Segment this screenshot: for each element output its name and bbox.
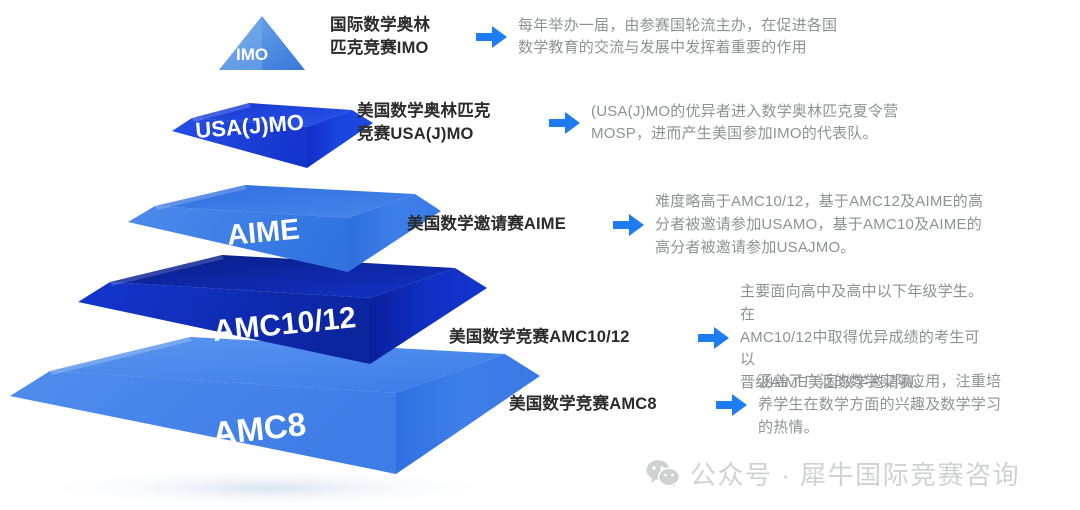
row-usajmo-title: 美国数学奥林匹克 竞赛USA(J)MO: [357, 100, 539, 147]
infographic-canvas: AMC8 AMC10/12 AIME USA(J)MO: [0, 0, 1080, 510]
row-amc8: 美国数学竞赛AMC8 涵盖了广泛的数学实际应用，注重培 养学生在数学方面的兴趣及…: [509, 371, 1005, 439]
wechat-icon: [646, 459, 680, 489]
tier-imo-label: IMO: [236, 45, 268, 64]
row-usajmo-desc: (USA(J)MO的优异者进入数学奥林匹克夏令营 MOSP，进而产生美国参加IM…: [591, 101, 923, 147]
row-usajmo: 美国数学奥林匹克 竞赛USA(J)MO (USA(J)MO的优异者进入数学奥林匹…: [357, 100, 923, 147]
row-aime-title: 美国数学邀请赛AIME: [407, 213, 603, 236]
row-imo: 国际数学奥林 匹克竞赛IMO 每年举办一届，由参赛国轮流主办，在促进各国 数学教…: [330, 14, 910, 61]
watermark: 公众号 · 犀牛国际竞赛咨询: [646, 455, 1020, 492]
arrow-right-icon: [548, 110, 582, 136]
row-amc1012-title: 美国数学竞赛AMC10/12: [449, 326, 688, 349]
arrow-right-icon: [697, 325, 731, 351]
pyramid-tier-usajmo[interactable]: USA(J)MO: [172, 103, 373, 168]
arrow-right-icon: [475, 24, 509, 50]
row-aime: 美国数学邀请赛AIME 难度略高于AMC10/12，基于AMC12及AIME的高…: [407, 191, 985, 259]
arrow-right-icon: [612, 212, 646, 238]
row-aime-desc: 难度略高于AMC10/12，基于AMC12及AIME的高 分者被邀请参加USAM…: [655, 191, 985, 259]
row-imo-desc: 每年举办一届，由参赛国轮流主办，在促进各国 数学教育的交流与发展中发挥着重要的作…: [518, 15, 910, 61]
arrow-right-icon: [715, 392, 749, 418]
row-amc8-desc: 涵盖了广泛的数学实际应用，注重培 养学生在数学方面的兴趣及数学学习 的热情。: [758, 371, 1005, 439]
pyramid-tier-imo[interactable]: IMO: [219, 16, 305, 70]
tier-aime-label: AIME: [226, 214, 301, 252]
row-imo-title: 国际数学奥林 匹克竞赛IMO: [330, 14, 466, 61]
row-amc8-title: 美国数学竞赛AMC8: [509, 393, 706, 416]
pyramid-shadow: [33, 468, 503, 508]
watermark-text: 公众号 · 犀牛国际竞赛咨询: [690, 455, 1020, 492]
